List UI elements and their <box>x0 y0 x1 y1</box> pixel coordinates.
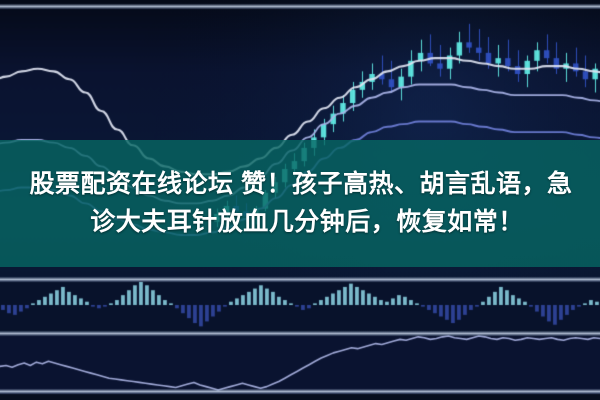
headline-line-2: 诊大夫耳针放血几分钟后，恢复如常！ <box>76 207 524 238</box>
stock-banner-image: 股票配资在线论坛 赞！孩子高热、胡言乱语，急 诊大夫耳针放血几分钟后，恢复如常！ <box>0 0 600 400</box>
banner-headline: 股票配资在线论坛 赞！孩子高热、胡言乱语，急 诊大夫耳针放血几分钟后，恢复如常！ <box>0 140 600 267</box>
headline-line-1: 股票配资在线论坛 赞！孩子高热、胡言乱语，急 <box>28 169 573 200</box>
